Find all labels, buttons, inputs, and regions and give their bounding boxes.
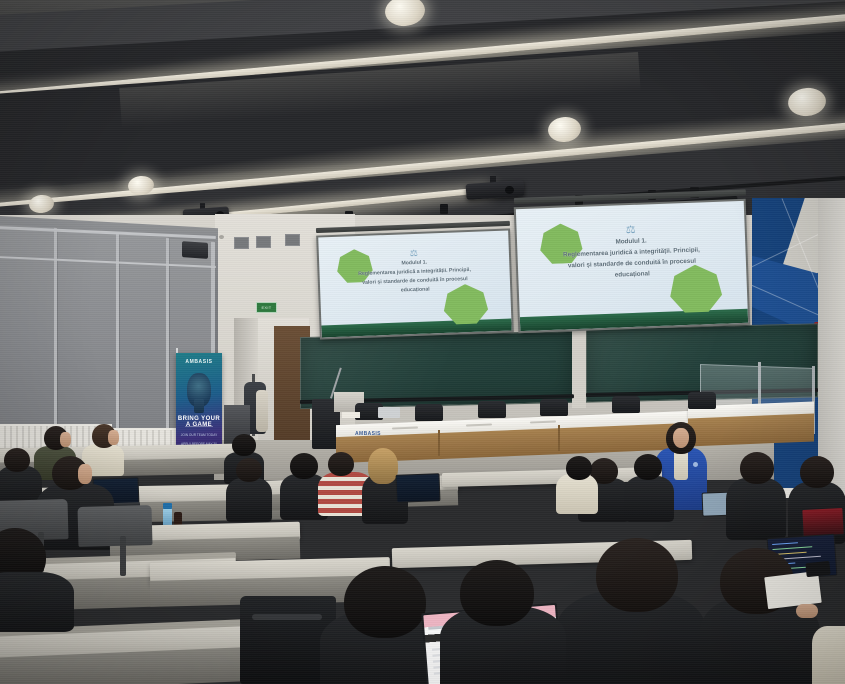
- desk-logo: AMBASIS: [355, 432, 381, 437]
- student-body: [726, 478, 786, 540]
- wall-panel-box: [256, 236, 271, 248]
- exit-sign-label: EXIT: [261, 306, 271, 310]
- laptop-right-red[interactable]: [801, 507, 844, 537]
- student-head: [236, 458, 262, 482]
- banner-sub-line-1: JOIN OUR TEAM TODAY: [176, 433, 222, 438]
- smoke-detector: [219, 235, 224, 239]
- seat[interactable]: [77, 505, 152, 547]
- student-body: [624, 476, 674, 522]
- slide-right: ⚖ Modulul 1. Reglementarea juridică a in…: [516, 201, 748, 331]
- student-head: [328, 452, 354, 476]
- presenter-top: [674, 450, 688, 480]
- student-head-foreground: [596, 538, 678, 612]
- right-wall-panel: [818, 198, 845, 498]
- front-desk-panel: [688, 413, 814, 446]
- coat-light: [256, 390, 268, 432]
- student-body: [556, 474, 598, 514]
- wall-speaker: [182, 241, 208, 259]
- exit-sign: EXIT: [256, 302, 277, 313]
- wall-panel-box: [285, 234, 300, 246]
- student-head: [4, 448, 30, 472]
- presenter-face: [673, 428, 689, 448]
- desk-papers: [342, 412, 360, 418]
- roll-up-banner: AMBASIS BRING YOUR A GAME JOIN OUR TEAM …: [176, 353, 222, 457]
- student-head: [800, 456, 834, 488]
- student-head: [368, 448, 398, 484]
- chair[interactable]: [540, 399, 568, 416]
- student-head: [634, 454, 662, 480]
- student-head: [566, 456, 592, 480]
- student-head: [232, 434, 256, 456]
- left-projection-screen: ⚖ Modulul 1. Reglementarea juridică a in…: [316, 228, 514, 339]
- desk-laptop[interactable]: [378, 407, 400, 418]
- chair[interactable]: [688, 392, 716, 409]
- banner-logo: AMBASIS: [176, 360, 222, 365]
- student-sleeve: [812, 626, 845, 684]
- right-projection-screen: ⚖ Modulul 1. Reglementarea juridică a in…: [514, 199, 750, 333]
- student-body-foreground: [0, 572, 74, 632]
- student-head-foreground: [460, 560, 534, 626]
- lecture-hall-photo: EXIT ⚖ Modulul 1.: [0, 0, 845, 684]
- student-head: [290, 453, 318, 479]
- student-head: [740, 452, 774, 484]
- chair[interactable]: [478, 401, 506, 418]
- student-body: [226, 478, 272, 522]
- student-head-foreground: [344, 566, 426, 638]
- chair[interactable]: [415, 404, 443, 421]
- wall-panel-box: [234, 237, 249, 249]
- student-hand: [796, 604, 818, 618]
- chair[interactable]: [612, 396, 640, 413]
- smartphone[interactable]: [805, 561, 830, 577]
- laptop-right-midrow[interactable]: [396, 473, 441, 503]
- presenter-badge: [693, 462, 698, 467]
- slide-left: ⚖ Modulul 1. Reglementarea juridică a in…: [318, 231, 512, 338]
